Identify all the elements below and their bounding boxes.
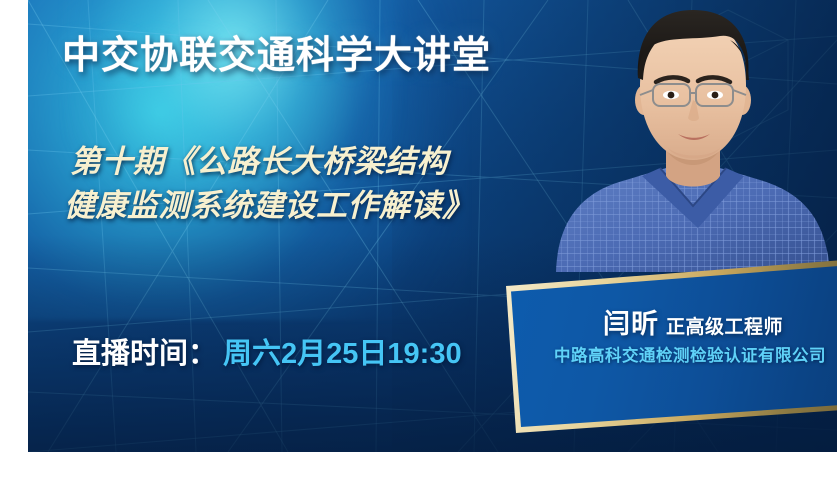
page-title: 中交协联交通科学大讲堂 bbox=[62, 24, 491, 79]
live-time: 直播时间：周六2月25日19:30 bbox=[72, 330, 462, 372]
speaker-identity-row: 闫昕正高级工程师 bbox=[528, 302, 837, 341]
poster-artboard: 中交协联交通科学大讲堂 第十期《公路长大桥梁结构 健康监测系统建设工作解读》 直… bbox=[28, 0, 837, 452]
speaker-organization: 中路高科交通检测检验认证有限公司 bbox=[524, 342, 837, 366]
speaker-job-title: 正高级工程师 bbox=[666, 317, 783, 338]
speaker-plate-text: 闫昕正高级工程师 中路高科交通检测检验认证有限公司 bbox=[498, 258, 837, 438]
episode-subtitle: 第十期《公路长大桥梁结构 健康监测系统建设工作解读》 bbox=[70, 140, 590, 228]
speaker-portrait bbox=[548, 0, 837, 272]
episode-subtitle-line-1: 第十期《公路长大桥梁结构 bbox=[70, 144, 448, 179]
episode-subtitle-line-2: 健康监测系统建设工作解读》 bbox=[64, 184, 590, 228]
live-time-value: 周六2月25日19:30 bbox=[223, 338, 462, 370]
live-time-label: 直播时间： bbox=[72, 338, 217, 370]
speaker-name: 闫昕 bbox=[603, 309, 659, 339]
speaker-plate: 闫昕正高级工程师 中路高科交通检测检验认证有限公司 bbox=[498, 258, 837, 438]
poster-root: 中交协联交通科学大讲堂 第十期《公路长大桥梁结构 健康监测系统建设工作解读》 直… bbox=[0, 0, 840, 480]
